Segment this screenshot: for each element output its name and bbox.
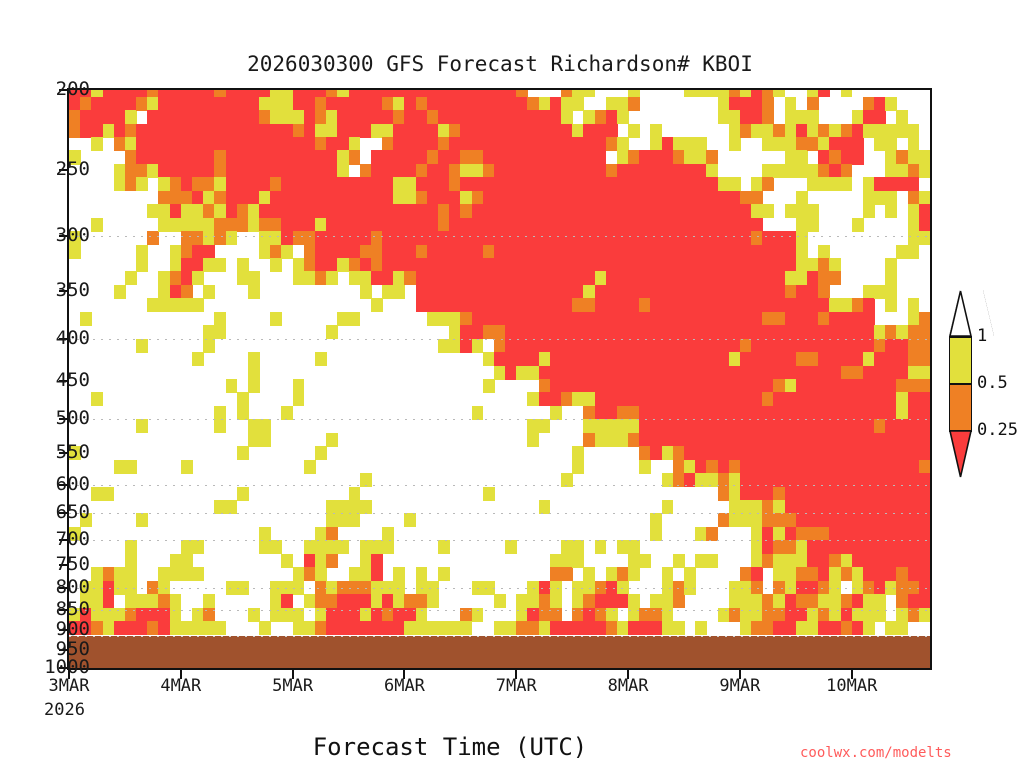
heatmap-cell: [807, 110, 819, 124]
heatmap-cell: [203, 594, 215, 608]
heatmap-cell: [114, 581, 126, 595]
heatmap-cell: [505, 312, 517, 326]
heatmap-cell: [349, 621, 361, 635]
heatmap-cell: [919, 433, 931, 447]
heatmap-cell: [472, 150, 484, 164]
heatmap-cell: [494, 177, 506, 191]
heatmap-cell: [796, 325, 808, 339]
heatmap-cell: [919, 540, 931, 554]
heatmap-cell: [583, 567, 595, 581]
heatmap-cell: [326, 204, 338, 218]
heatmap-cell: [539, 581, 551, 595]
heatmap-cell: [80, 110, 92, 124]
heatmap-cell: [382, 150, 394, 164]
heatmap-cell: [505, 621, 517, 635]
heatmap-cell: [561, 110, 573, 124]
heatmap-cell: [762, 608, 774, 622]
heatmap-cell: [427, 204, 439, 218]
heatmap-cell: [673, 245, 685, 259]
colorbar-label: 1: [977, 326, 987, 346]
heatmap-cell: [349, 581, 361, 595]
heatmap-cell: [662, 594, 674, 608]
heatmap-cell: [438, 285, 450, 299]
heatmap-cell: [505, 204, 517, 218]
heatmap-cell: [841, 500, 853, 514]
heatmap-cell: [729, 406, 741, 420]
heatmap-cell: [516, 258, 528, 272]
heatmap-cell: [751, 352, 763, 366]
heatmap-cell: [762, 164, 774, 178]
heatmap-cell: [807, 473, 819, 487]
heatmap-cell: [483, 110, 495, 124]
heatmap-cell: [281, 218, 293, 232]
heatmap-cell: [103, 594, 115, 608]
heatmap-cell: [181, 298, 193, 312]
x-axis-label: 10MAR: [792, 676, 912, 696]
heatmap-cell: [293, 567, 305, 581]
heatmap-cell: [751, 271, 763, 285]
heatmap-cell: [360, 567, 372, 581]
heatmap-cell: [673, 460, 685, 474]
heatmap-cell: [673, 285, 685, 299]
terrain-fill: [69, 636, 930, 668]
heatmap-cell: [852, 218, 864, 232]
heatmap-cell: [662, 231, 674, 245]
heatmap-cell: [304, 621, 316, 635]
heatmap-cell: [315, 218, 327, 232]
heatmap-cell: [740, 487, 752, 501]
heatmap-cell: [617, 204, 629, 218]
heatmap-cell: [170, 567, 182, 581]
heatmap-cell: [438, 339, 450, 353]
heatmap-cell: [695, 191, 707, 205]
heatmap-cell: [270, 231, 282, 245]
heatmap-cell: [192, 271, 204, 285]
heatmap-cell: [874, 446, 886, 460]
heatmap-cell: [304, 124, 316, 138]
heatmap-cell: [494, 231, 506, 245]
heatmap-cell: [259, 419, 271, 433]
heatmap-cell: [852, 540, 864, 554]
heatmap-cell: [572, 594, 584, 608]
heatmap-cell: [606, 177, 618, 191]
heatmap-cell: [550, 366, 562, 380]
heatmap-cell: [639, 191, 651, 205]
heatmap-cell: [773, 608, 785, 622]
colorbar[interactable]: 10.50.25: [949, 290, 973, 475]
heatmap-cell: [695, 231, 707, 245]
heatmap-cell: [438, 137, 450, 151]
heatmap-cell: [896, 446, 908, 460]
heatmap-cell: [874, 366, 886, 380]
heatmap-cell: [606, 392, 618, 406]
heatmap-cell: [751, 554, 763, 568]
heatmap-cell: [807, 164, 819, 178]
heatmap-cell: [796, 554, 808, 568]
heatmap-cell: [863, 191, 875, 205]
heatmap-cell: [684, 231, 696, 245]
heatmap-cell: [382, 204, 394, 218]
heatmap-cell: [773, 124, 785, 138]
heatmap-cell: [796, 312, 808, 326]
heatmap-cell: [852, 513, 864, 527]
heatmap-cell: [181, 285, 193, 299]
heatmap-cell: [416, 567, 428, 581]
heatmap-cell: [293, 124, 305, 138]
heatmap-cell: [785, 500, 797, 514]
heatmap-cell: [628, 191, 640, 205]
heatmap-cell: [896, 164, 908, 178]
heatmap-cell: [841, 312, 853, 326]
heatmap-cell: [617, 379, 629, 393]
heatmap-cell: [516, 621, 528, 635]
heatmap-cell: [606, 298, 618, 312]
heatmap-cell: [561, 191, 573, 205]
heatmap-cell: [617, 406, 629, 420]
heatmap-cell: [460, 191, 472, 205]
heatmap-cell: [326, 137, 338, 151]
heatmap-cell: [807, 608, 819, 622]
heatmap-cell: [684, 137, 696, 151]
heatmap-cell: [650, 419, 662, 433]
heatmap-cell: [136, 608, 148, 622]
heatmap-cell: [382, 110, 394, 124]
heatmap-cell: [583, 191, 595, 205]
heatmap-cell: [852, 392, 864, 406]
heatmap-cell: [214, 137, 226, 151]
heatmap-cell: [628, 379, 640, 393]
heatmap-cell: [684, 392, 696, 406]
heatmap-cell: [472, 608, 484, 622]
heatmap-cell: [181, 258, 193, 272]
heatmap-cell: [874, 191, 886, 205]
heatmap-cell: [617, 339, 629, 353]
heatmap-cell: [248, 191, 260, 205]
heatmap-cell: [796, 594, 808, 608]
heatmap-cell: [807, 352, 819, 366]
heatmap-cell: [192, 298, 204, 312]
heatmap-cell: [91, 621, 103, 635]
heatmap-cell: [214, 258, 226, 272]
heatmap-cell: [896, 325, 908, 339]
heatmap-cell: [740, 581, 752, 595]
heatmap-cell: [606, 258, 618, 272]
heatmap-cell: [248, 124, 260, 138]
heatmap-cell: [796, 473, 808, 487]
heatmap-cell: [382, 218, 394, 232]
heatmap-cell: [360, 621, 372, 635]
heatmap-cell: [494, 298, 506, 312]
heatmap-cell: [214, 231, 226, 245]
heatmap-cell: [460, 608, 472, 622]
heatmap-cell: [203, 177, 215, 191]
heatmap-cell: [673, 392, 685, 406]
heatmap-cell: [516, 271, 528, 285]
colorbar-band-yellow[interactable]: [949, 336, 972, 383]
heatmap-cell: [449, 231, 461, 245]
heatmap-cell: [751, 110, 763, 124]
heatmap-cell: [349, 500, 361, 514]
heatmap-cell: [896, 419, 908, 433]
heatmap-cell: [550, 191, 562, 205]
heatmap-cell: [337, 231, 349, 245]
heatmap-cell: [718, 258, 730, 272]
heatmap-cell: [796, 285, 808, 299]
heatmap-cell: [874, 177, 886, 191]
heatmap-cell: [226, 231, 238, 245]
heatmap-cell: [483, 231, 495, 245]
heatmap-cell: [315, 124, 327, 138]
heatmap-cell: [841, 608, 853, 622]
heatmap-cell: [427, 258, 439, 272]
heatmap-cell: [583, 124, 595, 138]
heatmap-cell: [170, 608, 182, 622]
heatmap-cell: [639, 433, 651, 447]
heatmap-cell: [561, 325, 573, 339]
heatmap-cell: [572, 218, 584, 232]
heatmap-cell: [583, 419, 595, 433]
heatmap-cell: [326, 325, 338, 339]
heatmap-cell: [416, 177, 428, 191]
heatmap-cell: [628, 608, 640, 622]
heatmap-cell: [449, 312, 461, 326]
heatmap-cell: [718, 204, 730, 218]
heatmap-cell: [740, 298, 752, 312]
heatmap-cell: [919, 231, 931, 245]
heatmap-cell: [662, 567, 674, 581]
credit-link[interactable]: coolwx.com/modelts: [800, 745, 1015, 761]
heatmap-cell: [684, 285, 696, 299]
heatmap-cell: [147, 110, 159, 124]
heatmap-cell: [583, 271, 595, 285]
heatmap-cell: [572, 621, 584, 635]
heatmap-cell: [550, 392, 562, 406]
heatmap-cell: [896, 621, 908, 635]
heatmap-cell: [572, 608, 584, 622]
heatmap-cell: [718, 339, 730, 353]
heatmap-cell: [919, 150, 931, 164]
heatmap-cell: [807, 258, 819, 272]
heatmap-cell: [695, 352, 707, 366]
colorbar-band-orange[interactable]: [949, 383, 972, 430]
heatmap-cell: [639, 204, 651, 218]
heatmap-cell: [639, 406, 651, 420]
heatmap-cell: [427, 110, 439, 124]
heatmap-cell: [785, 271, 797, 285]
heatmap-cell: [729, 419, 741, 433]
heatmap-cell: [315, 110, 327, 124]
heatmap-cell: [706, 271, 718, 285]
heatmap-cell: [505, 366, 517, 380]
heatmap-cell: [841, 594, 853, 608]
heatmap-cell: [561, 554, 573, 568]
heatmap-cell: [874, 285, 886, 299]
heatmap-cell: [785, 164, 797, 178]
heatmap-cell: [818, 177, 830, 191]
heatmap-cell: [773, 460, 785, 474]
heatmap-cell: [595, 204, 607, 218]
heatmap-cell: [852, 379, 864, 393]
heatmap-cell: [729, 218, 741, 232]
heatmap-cell: [192, 164, 204, 178]
heatmap-cell: [796, 379, 808, 393]
heatmap-cell: [259, 204, 271, 218]
heatmap-cell: [326, 581, 338, 595]
heatmap-cell: [572, 298, 584, 312]
heatmap-cell: [684, 245, 696, 259]
heatmap-cell: [841, 379, 853, 393]
heatmap-cell: [527, 581, 539, 595]
heatmap-cell: [617, 540, 629, 554]
heatmap-cell: [125, 124, 137, 138]
heatmap-cell: [639, 352, 651, 366]
heatmap-cell: [818, 312, 830, 326]
heatmap-cell: [818, 366, 830, 380]
heatmap-cell: [147, 608, 159, 622]
heatmap-cell: [852, 473, 864, 487]
heatmap-cell: [852, 487, 864, 501]
heatmap-cell: [852, 298, 864, 312]
heatmap-cell: [539, 231, 551, 245]
heatmap-cell: [326, 110, 338, 124]
heatmap-cell: [908, 500, 920, 514]
heatmap-cell: [639, 312, 651, 326]
heatmap-cell: [349, 231, 361, 245]
heatmap-cell: [237, 97, 249, 111]
heatmap-cell: [293, 392, 305, 406]
heatmap-cell: [908, 218, 920, 232]
heatmap-cell: [628, 271, 640, 285]
heatmap-cell: [595, 285, 607, 299]
heatmap-cell: [259, 177, 271, 191]
heatmap-cell: [226, 191, 238, 205]
heatmap-cell: [908, 352, 920, 366]
heatmap-cell: [226, 137, 238, 151]
heatmap-cell: [270, 110, 282, 124]
heatmap-cell: [181, 621, 193, 635]
heatmap-cell: [158, 608, 170, 622]
y-axis-label: 450: [0, 369, 90, 391]
heatmap-cell: [337, 97, 349, 111]
heatmap-cell: [874, 527, 886, 541]
heatmap-cell: [572, 379, 584, 393]
heatmap-cell: [650, 513, 662, 527]
heatmap-cell: [885, 446, 897, 460]
heatmap-cell: [293, 218, 305, 232]
heatmap-cell: [639, 164, 651, 178]
heatmap-cell: [908, 124, 920, 138]
heatmap-cell: [628, 366, 640, 380]
heatmap-cell: [684, 258, 696, 272]
heatmap-cell: [829, 339, 841, 353]
heatmap-cell: [539, 191, 551, 205]
heatmap-cell: [427, 231, 439, 245]
heatmap-cell: [103, 97, 115, 111]
heatmap-cell: [684, 298, 696, 312]
heatmap-cell: [315, 352, 327, 366]
y-axis-label: 700: [0, 528, 90, 550]
heatmap-cell: [427, 285, 439, 299]
heatmap-cell: [818, 164, 830, 178]
heatmap-cell: [583, 90, 595, 97]
heatmap-cell: [863, 352, 875, 366]
heatmap-cell: [259, 621, 271, 635]
heatmap-cell: [695, 90, 707, 97]
heatmap-cell: [505, 258, 517, 272]
heatmap-cell: [360, 177, 372, 191]
heatmap-cell: [841, 298, 853, 312]
heatmap-cell: [919, 446, 931, 460]
heatmap-cell: [695, 298, 707, 312]
heatmap-cell: [863, 594, 875, 608]
heatmap-cell: [606, 245, 618, 259]
heatmap-cell: [662, 352, 674, 366]
heatmap-cell: [718, 177, 730, 191]
heatmap-cell: [874, 608, 886, 622]
heatmap-cell: [796, 137, 808, 151]
heatmap-cell: [818, 285, 830, 299]
heatmap-cell: [673, 298, 685, 312]
heatmap-cell: [762, 325, 774, 339]
heatmap-cell: [773, 312, 785, 326]
heatmap-cell: [360, 581, 372, 595]
heatmap-cell: [785, 97, 797, 111]
heatmap-cell: [852, 446, 864, 460]
heatmap-cell: [829, 406, 841, 420]
heatmap-cell: [896, 513, 908, 527]
heatmap-cell: [248, 110, 260, 124]
heatmap-cell: [572, 258, 584, 272]
heatmap-cell: [639, 258, 651, 272]
heatmap-cell: [170, 298, 182, 312]
heatmap-cell: [729, 298, 741, 312]
heatmap-cell: [829, 513, 841, 527]
heatmap-cell: [762, 177, 774, 191]
heatmap-cell: [773, 325, 785, 339]
heatmap-cell: [762, 487, 774, 501]
heatmap-cell: [829, 527, 841, 541]
heatmap-cell: [248, 366, 260, 380]
heatmap-cell: [472, 204, 484, 218]
heatmap-cell: [919, 473, 931, 487]
heatmap-cell: [796, 540, 808, 554]
heatmap-cell: [170, 285, 182, 299]
terrain-gridlines: [69, 636, 930, 668]
heatmap-cell: [762, 285, 774, 299]
heatmap-cell: [896, 110, 908, 124]
heatmap-cell: [382, 621, 394, 635]
heatmap-cell: [483, 124, 495, 138]
heatmap-cell: [807, 500, 819, 514]
heatmap-cell: [192, 177, 204, 191]
heatmap-cell: [595, 164, 607, 178]
heatmap-cell: [673, 433, 685, 447]
heatmap-cell: [226, 204, 238, 218]
heatmap-cell: [595, 110, 607, 124]
heatmap-cell: [673, 621, 685, 635]
heatmap-cell: [550, 258, 562, 272]
heatmap-cell: [606, 594, 618, 608]
heatmap-cell: [382, 540, 394, 554]
heatmap-cell: [181, 460, 193, 474]
heatmap-cell: [337, 164, 349, 178]
heatmap-cell: [270, 608, 282, 622]
heatmap-cell: [885, 433, 897, 447]
heatmap-cell: [583, 339, 595, 353]
heatmap-cell: [170, 137, 182, 151]
heatmap-cell: [382, 594, 394, 608]
heatmap-cell: [527, 419, 539, 433]
